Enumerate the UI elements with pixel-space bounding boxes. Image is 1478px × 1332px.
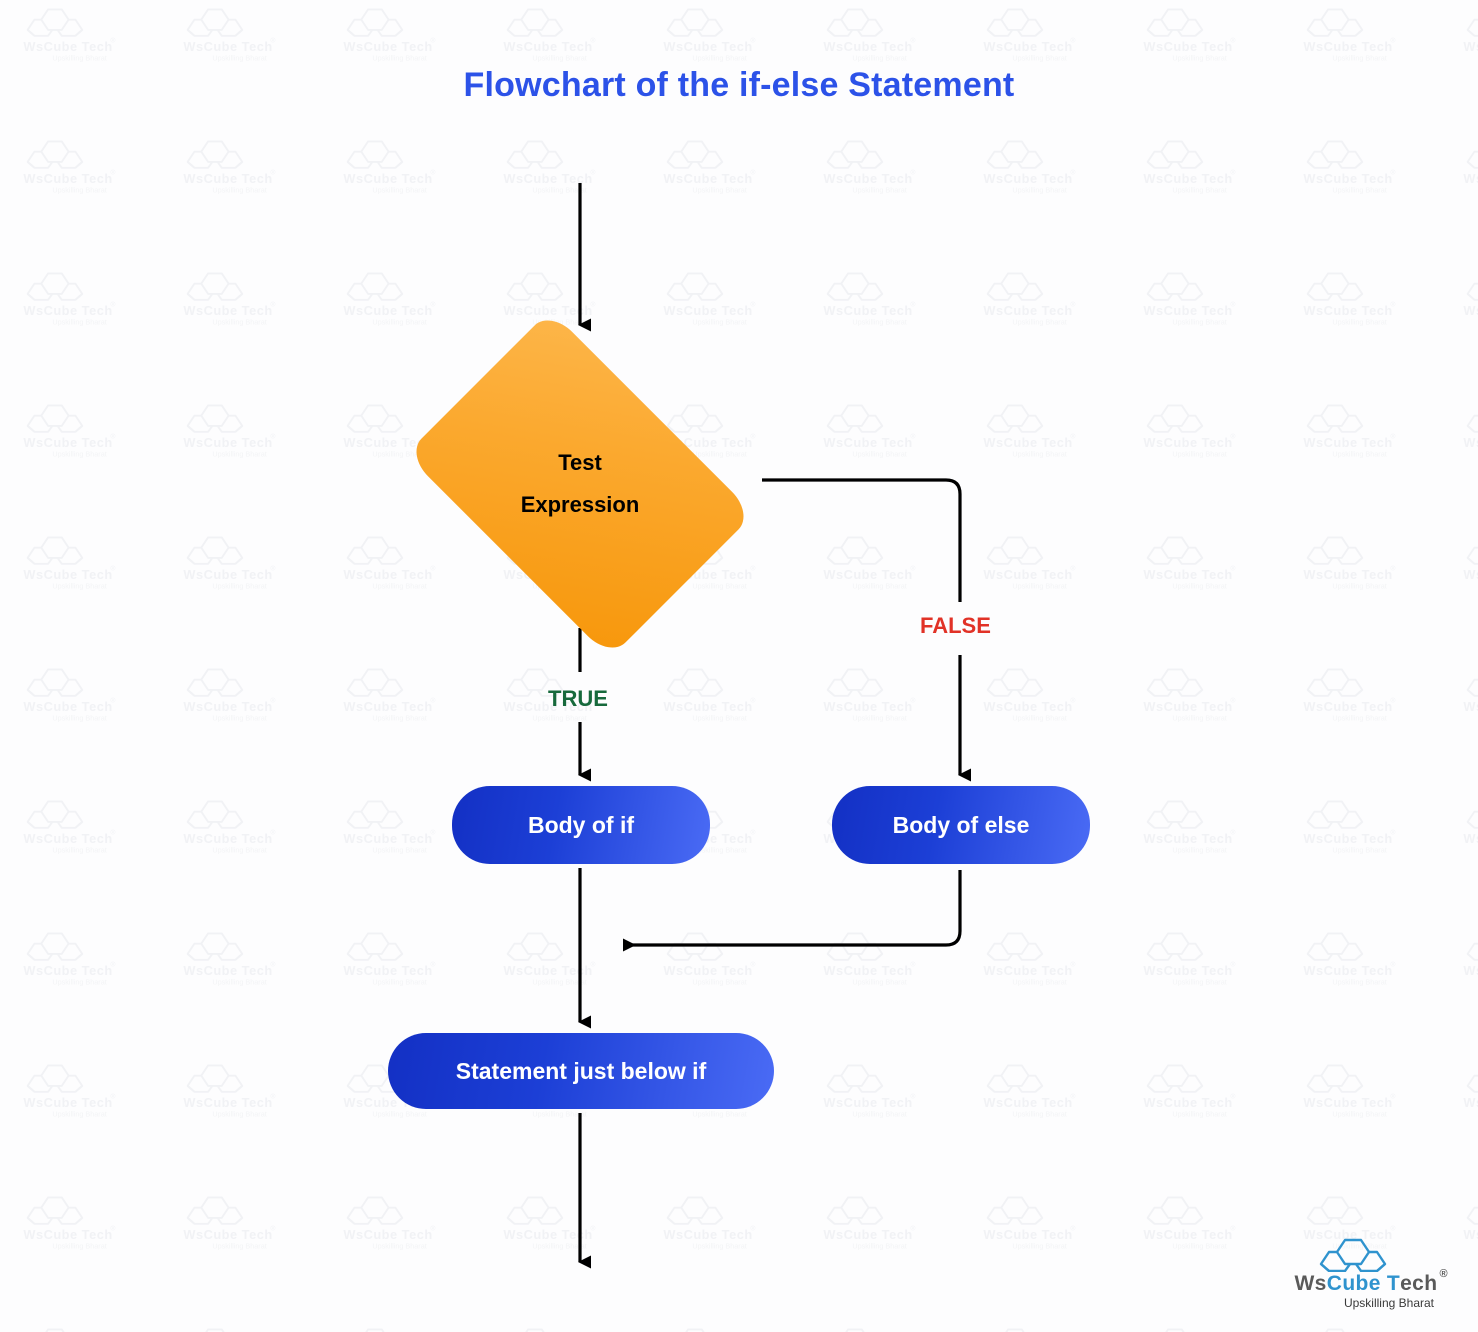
brand-logo: Ws Cube T ech ® Upskilling Bharat xyxy=(1294,1238,1448,1310)
process-node-body-of-if[interactable]: Body of if xyxy=(452,786,710,864)
decision-node-label: Test Expression xyxy=(400,340,760,628)
process-node-body-of-else[interactable]: Body of else xyxy=(832,786,1090,864)
process-node-label: Body of if xyxy=(528,812,634,839)
brand-name-ws: Ws xyxy=(1294,1273,1326,1294)
edge-label-true: TRUE xyxy=(548,686,608,712)
brand-name-ech: ech xyxy=(1400,1273,1437,1294)
page-title: Flowchart of the if-else Statement xyxy=(0,66,1478,105)
edge-body-else-to-merge xyxy=(625,870,960,945)
process-node-label: Statement just below if xyxy=(456,1058,706,1085)
brand-name-t: T xyxy=(1387,1273,1400,1294)
brand-name-cube: Cube xyxy=(1327,1273,1381,1294)
decision-label-line2: Expression xyxy=(521,484,640,526)
edge-label-false: FALSE xyxy=(920,613,991,639)
decision-node-test-expression[interactable]: Test Expression xyxy=(400,340,760,628)
hexagon-logo-icon xyxy=(1298,1238,1448,1272)
process-node-label: Body of else xyxy=(893,812,1030,839)
brand-wordmark: Ws Cube T ech ® xyxy=(1294,1273,1448,1294)
brand-tagline: Upskilling Bharat xyxy=(1344,1296,1434,1310)
connector-lines xyxy=(0,0,1478,1332)
process-node-statement-below-if[interactable]: Statement just below if xyxy=(388,1033,774,1109)
decision-label-line1: Test xyxy=(558,442,602,484)
registered-trademark-icon: ® xyxy=(1439,1269,1448,1280)
flowchart-page: WsCube Tech®Upskilling BharatWsCube Tech… xyxy=(0,0,1478,1332)
